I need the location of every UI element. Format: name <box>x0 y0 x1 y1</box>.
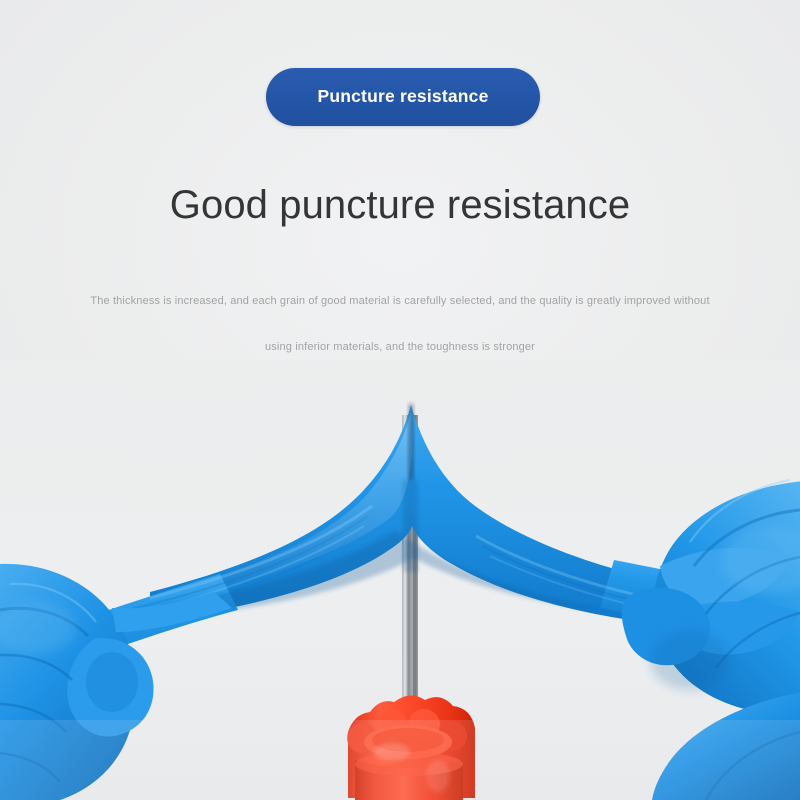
glove-pierce-seam <box>408 404 414 480</box>
description-line-1: The thickness is increased, and each gra… <box>0 278 800 324</box>
product-demo-photo <box>0 360 800 800</box>
puncture-resistance-badge[interactable]: Puncture resistance <box>266 68 540 126</box>
description-paragraph: The thickness is increased, and each gra… <box>0 278 800 370</box>
badge-label: Puncture resistance <box>317 88 488 106</box>
page-title: Good puncture resistance <box>0 181 800 229</box>
product-feature-page: Puncture resistance Good puncture resist… <box>0 0 800 800</box>
